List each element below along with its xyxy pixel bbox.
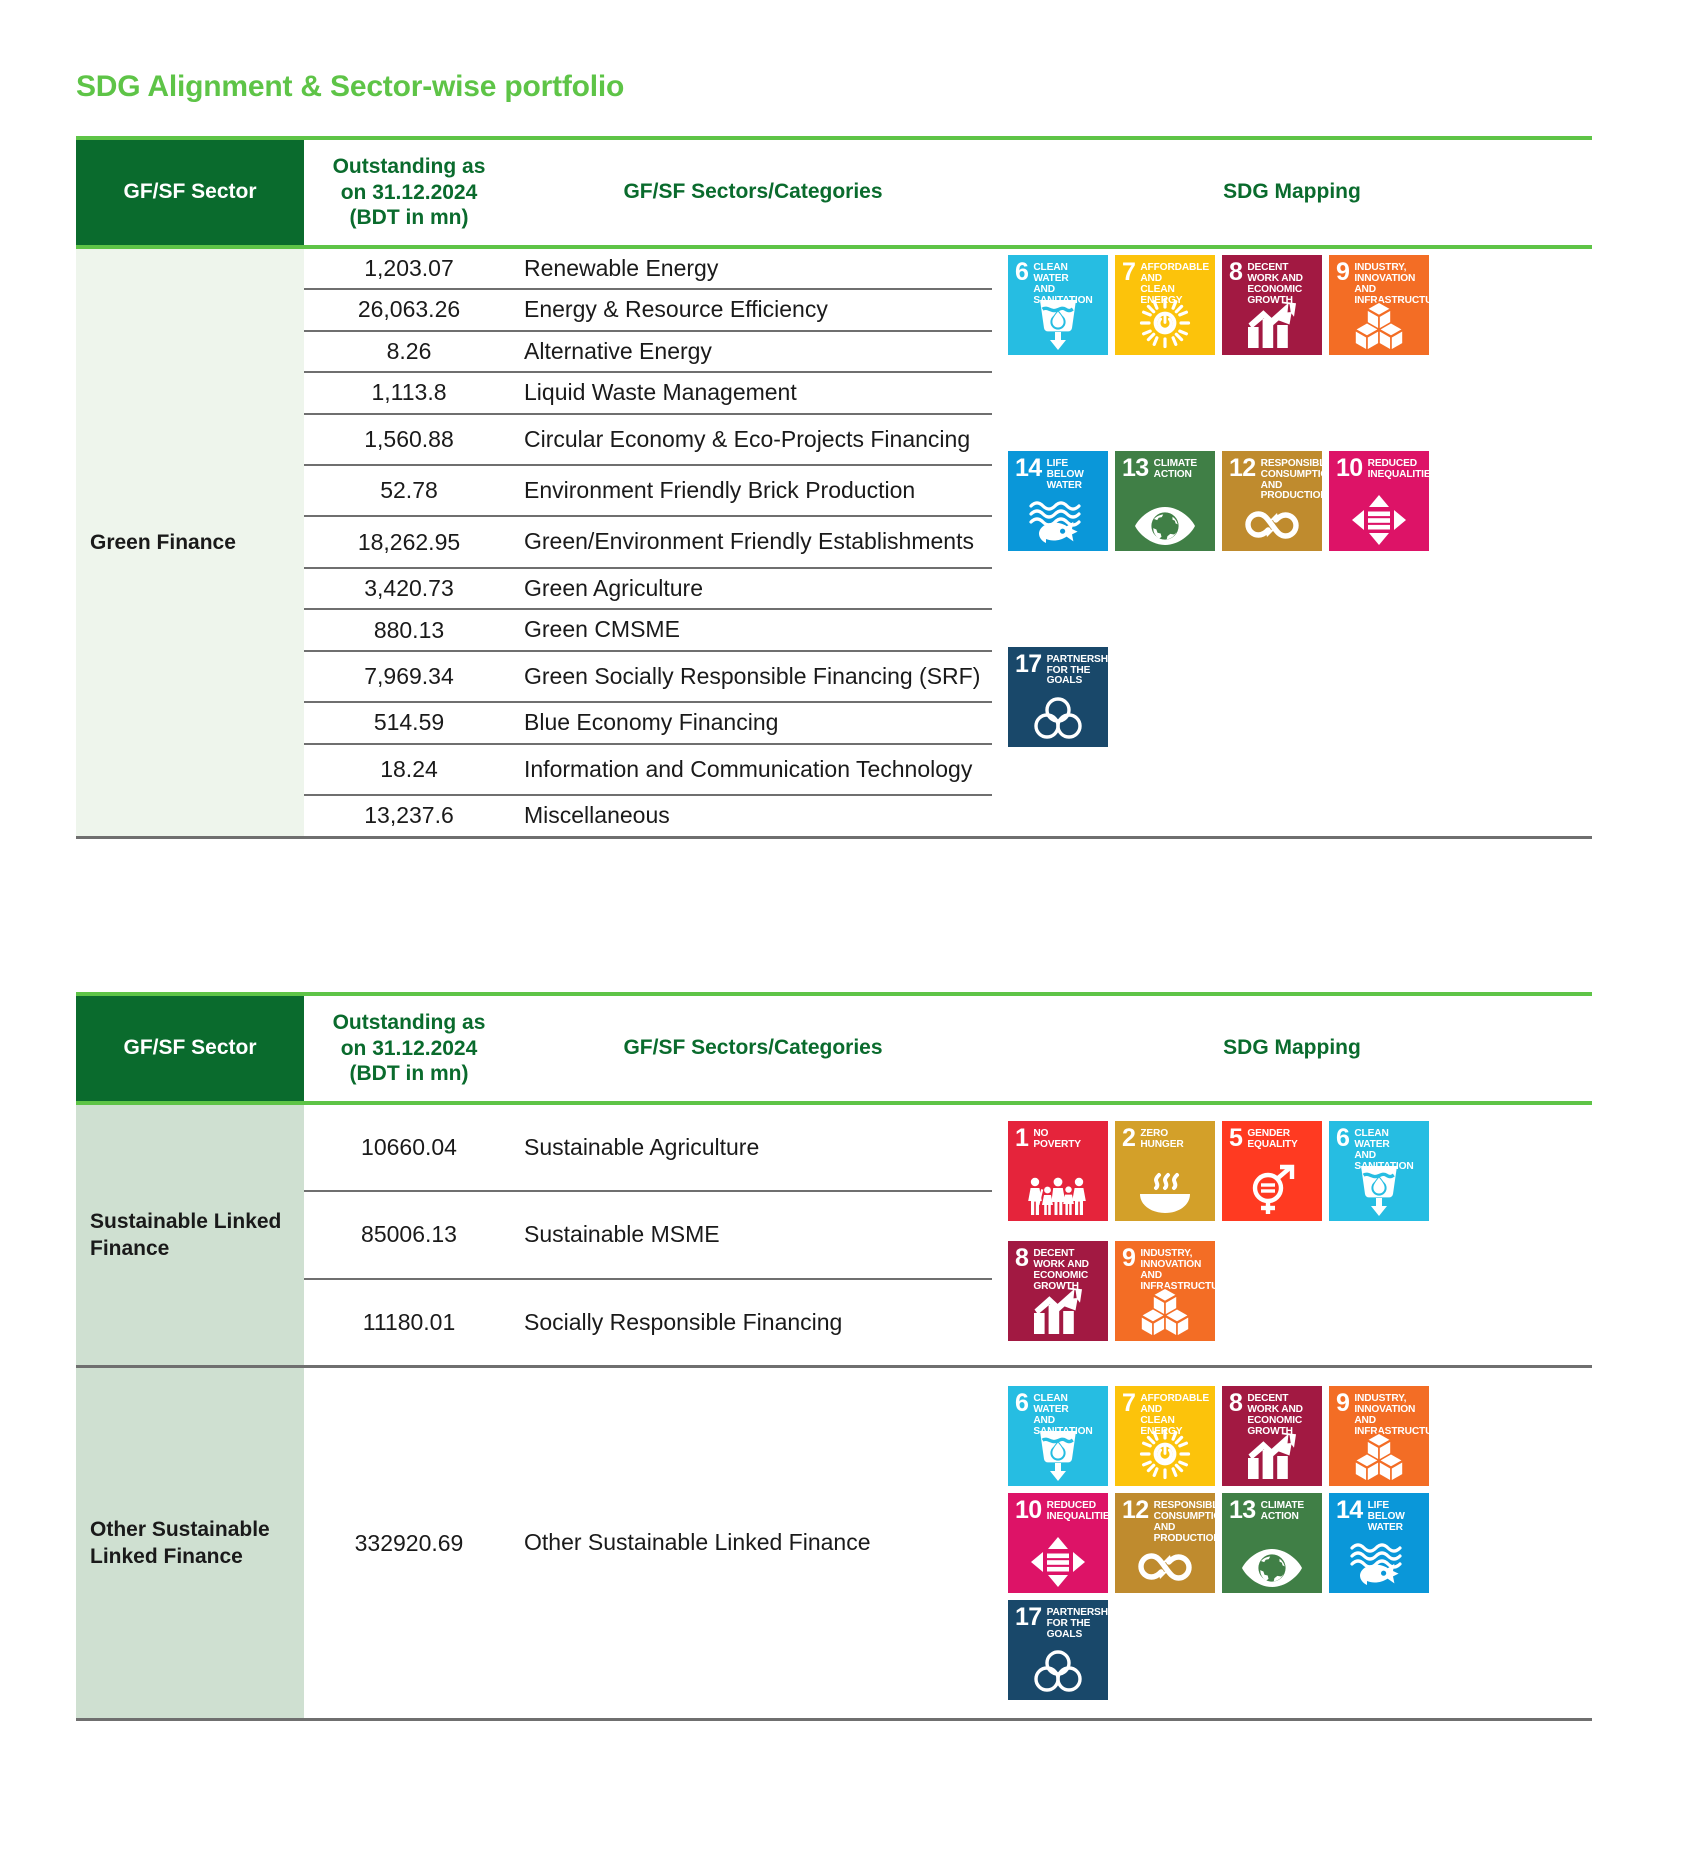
sdg-goal-number: 9 xyxy=(1336,262,1349,283)
sdg-icon-grid: 6CLEAN WATERAND SANITATION7AFFORDABLE AN… xyxy=(1008,255,1460,836)
header-outstanding-2: Outstanding as on 31.12.2024 (BDT in mn) xyxy=(304,996,514,1101)
row-outstanding-amount: 52.78 xyxy=(304,466,514,515)
sdg-tile-header: 1NOPOVERTY xyxy=(1008,1121,1108,1151)
sdg-goal-10-tile: 10REDUCEDINEQUALITIES xyxy=(1008,1493,1108,1593)
sdg-goal-14-tile: 14LIFEBELOW WATER xyxy=(1008,451,1108,551)
sdg-tile-header: 17PARTNERSHIPSFOR THE GOALS xyxy=(1008,1600,1108,1641)
sdg-tile-header: 9INDUSTRY, INNOVATIONAND INFRASTRUCTURE xyxy=(1329,255,1429,307)
row-category-label: Other Sustainable Linked Finance xyxy=(514,1500,992,1585)
table2-bottom-rule xyxy=(76,1718,1592,1721)
fish-waves-icon xyxy=(1008,500,1108,546)
sun-power-icon xyxy=(1115,1427,1215,1481)
sdg-goal-14-tile: 14LIFEBELOW WATER xyxy=(1329,1493,1429,1593)
sdg-icon-grid: 6CLEAN WATERAND SANITATION7AFFORDABLE AN… xyxy=(1008,1386,1460,1700)
table-row: 52.78Environment Friendly Brick Producti… xyxy=(304,466,992,517)
sdg-goal-number: 10 xyxy=(1336,458,1363,479)
green-finance-table: GF/SF Sector Outstanding as on 31.12.202… xyxy=(76,136,1592,839)
sdg-tile-header: 12RESPONSIBLECONSUMPTIONAND PRODUCTION xyxy=(1115,1493,1215,1545)
growth-chart-icon xyxy=(1008,1286,1108,1336)
table1-sdg-cell: 6CLEAN WATERAND SANITATION7AFFORDABLE AN… xyxy=(992,249,1592,836)
table2-rows: 10660.04Sustainable Agriculture85006.13S… xyxy=(304,1105,992,1365)
sdg-tile-header: 10REDUCEDINEQUALITIES xyxy=(1008,1493,1108,1523)
fish-waves-icon xyxy=(1329,1542,1429,1588)
row-outstanding-amount: 7,969.34 xyxy=(304,652,514,701)
table-row: 13,237.6Miscellaneous xyxy=(304,796,992,835)
sector-label-green-finance: Green Finance xyxy=(76,249,304,836)
sdg-goal-number: 9 xyxy=(1336,1393,1349,1414)
sdg-goal-7-tile: 7AFFORDABLE ANDCLEAN ENERGY xyxy=(1115,1386,1215,1486)
table-row: 18,262.95Green/Environment Friendly Esta… xyxy=(304,517,992,568)
row-category-label: Environment Friendly Brick Production xyxy=(514,466,992,515)
row-category-label: Green CMSME xyxy=(514,610,992,649)
sdg-goal-13-tile: 13CLIMATEACTION xyxy=(1115,451,1215,551)
sdg-goal-7-tile: 7AFFORDABLE ANDCLEAN ENERGY xyxy=(1115,255,1215,355)
sdg-goal-6-tile: 6CLEAN WATERAND SANITATION xyxy=(1329,1121,1429,1221)
header-outstanding-2-line2: on 31.12.2024 xyxy=(341,1036,478,1062)
table1-bottom-rule xyxy=(76,836,1592,839)
sdg-tile-header: 13CLIMATEACTION xyxy=(1222,1493,1322,1523)
table-row: 1,560.88Circular Economy & Eco-Projects … xyxy=(304,415,992,466)
sdg-goal-number: 12 xyxy=(1229,458,1256,479)
table-row: 3,420.73Green Agriculture xyxy=(304,569,992,610)
row-outstanding-amount: 1,203.07 xyxy=(304,249,514,288)
row-category-label: Blue Economy Financing xyxy=(514,703,992,742)
sdg-goal-number: 5 xyxy=(1229,1128,1242,1149)
sdg-goal-number: 13 xyxy=(1122,458,1149,479)
gender-equality-icon xyxy=(1222,1164,1322,1216)
infinity-loop-icon xyxy=(1115,1546,1215,1588)
cubes-icon xyxy=(1329,1431,1429,1481)
table-row: 514.59Blue Economy Financing xyxy=(304,703,992,744)
water-glass-icon xyxy=(1329,1162,1429,1216)
sdg-tile-header: 9INDUSTRY, INNOVATIONAND INFRASTRUCTURE xyxy=(1115,1241,1215,1293)
row-outstanding-amount: 332920.69 xyxy=(304,1500,514,1585)
sdg-goal-label: RESPONSIBLECONSUMPTIONAND PRODUCTION xyxy=(1261,458,1322,503)
sun-power-icon xyxy=(1115,296,1215,350)
header-sdg-mapping-2: SDG Mapping xyxy=(992,996,1592,1101)
sdg-goal-label: NOPOVERTY xyxy=(1033,1128,1081,1151)
sdg-goal-5-tile: 5GENDEREQUALITY xyxy=(1222,1121,1322,1221)
sdg-goal-9-tile: 9INDUSTRY, INNOVATIONAND INFRASTRUCTURE xyxy=(1329,1386,1429,1486)
sdg-tile-header: 8DECENT WORK ANDECONOMIC GROWTH xyxy=(1222,255,1322,307)
sdg-goal-number: 8 xyxy=(1229,262,1242,283)
growth-chart-icon xyxy=(1222,1431,1322,1481)
header-outstanding-line3: (BDT in mn) xyxy=(350,205,469,231)
table-row: 7,969.34Green Socially Responsible Finan… xyxy=(304,652,992,703)
row-category-label: Sustainable Agriculture xyxy=(514,1105,992,1190)
row-category-label: Socially Responsible Financing xyxy=(514,1280,992,1365)
row-outstanding-amount: 1,560.88 xyxy=(304,415,514,464)
row-category-label: Sustainable MSME xyxy=(514,1192,992,1277)
sdg-tile-header: 14LIFEBELOW WATER xyxy=(1008,451,1108,492)
sdg-portfolio-page: SDG Alignment & Sector-wise portfolio GF… xyxy=(0,0,1689,1873)
sdg-goal-number: 12 xyxy=(1122,1500,1149,1521)
row-category-label: Liquid Waste Management xyxy=(514,373,992,412)
sdg-goal-label: CLIMATEACTION xyxy=(1261,1500,1304,1523)
equality-arrows-icon xyxy=(1329,494,1429,546)
eye-earth-icon xyxy=(1222,1548,1322,1588)
sdg-goal-17-tile: 17PARTNERSHIPSFOR THE GOALS xyxy=(1008,1600,1108,1700)
sdg-goal-number: 6 xyxy=(1336,1128,1349,1149)
sdg-goal-12-tile: 12RESPONSIBLECONSUMPTIONAND PRODUCTION xyxy=(1222,451,1322,551)
row-outstanding-amount: 85006.13 xyxy=(304,1192,514,1277)
table2-rows: 332920.69Other Sustainable Linked Financ… xyxy=(304,1368,992,1718)
page-title: SDG Alignment & Sector-wise portfolio xyxy=(76,70,624,104)
people-icon xyxy=(1008,1176,1108,1216)
table1-header-row: GF/SF Sector Outstanding as on 31.12.202… xyxy=(76,140,1592,245)
table-row: 1,203.07Renewable Energy xyxy=(304,249,992,290)
sdg-goal-1-tile: 1NOPOVERTY xyxy=(1008,1121,1108,1221)
table2-sdg-cell: 6CLEAN WATERAND SANITATION7AFFORDABLE AN… xyxy=(992,1368,1592,1718)
row-category-label: Information and Communication Technology xyxy=(514,745,992,794)
table-row: 85006.13Sustainable MSME xyxy=(304,1192,992,1279)
sdg-goal-10-tile: 10REDUCEDINEQUALITIES xyxy=(1329,451,1429,551)
sdg-tile-header: 17PARTNERSHIPSFOR THE GOALS xyxy=(1008,647,1108,688)
sdg-tile-header: 13CLIMATEACTION xyxy=(1115,451,1215,481)
header-outstanding-line2: on 31.12.2024 xyxy=(341,180,478,206)
table-row: 880.13Green CMSME xyxy=(304,610,992,651)
header-sdg-mapping: SDG Mapping xyxy=(992,140,1592,245)
row-category-label: Miscellaneous xyxy=(514,796,992,835)
header-categories-2: GF/SF Sectors/Categories xyxy=(514,996,992,1101)
row-outstanding-amount: 514.59 xyxy=(304,703,514,742)
sdg-tile-header: 14LIFEBELOW WATER xyxy=(1329,1493,1429,1534)
table-row: 8.26Alternative Energy xyxy=(304,332,992,373)
header-outstanding: Outstanding as on 31.12.2024 (BDT in mn) xyxy=(304,140,514,245)
table2-group: Other Sustainable Linked Finance332920.6… xyxy=(76,1365,1592,1718)
bowl-steam-icon xyxy=(1115,1170,1215,1216)
sdg-goal-6-tile: 6CLEAN WATERAND SANITATION xyxy=(1008,255,1108,355)
sdg-goal-number: 7 xyxy=(1122,262,1135,283)
sdg-goal-number: 8 xyxy=(1229,1393,1242,1414)
sdg-goal-label: CLIMATEACTION xyxy=(1154,458,1197,481)
table-row: 18.24Information and Communication Techn… xyxy=(304,745,992,796)
sdg-tile-header: 8DECENT WORK ANDECONOMIC GROWTH xyxy=(1008,1241,1108,1293)
water-glass-icon xyxy=(1008,1427,1108,1481)
header-outstanding-2-line1: Outstanding as xyxy=(333,1010,486,1036)
row-outstanding-amount: 8.26 xyxy=(304,332,514,371)
table2-header-row: GF/SF Sector Outstanding as on 31.12.202… xyxy=(76,996,1592,1101)
header-sector-2: GF/SF Sector xyxy=(76,996,304,1101)
table-row: 10660.04Sustainable Agriculture xyxy=(304,1105,992,1192)
row-outstanding-amount: 13,237.6 xyxy=(304,796,514,835)
sdg-goal-8-tile: 8DECENT WORK ANDECONOMIC GROWTH xyxy=(1222,255,1322,355)
partnership-rings-icon xyxy=(1008,1649,1108,1695)
sdg-goal-number: 13 xyxy=(1229,1500,1256,1521)
sdg-goal-label: REDUCEDINEQUALITIES xyxy=(1368,458,1429,481)
sdg-tile-header: 8DECENT WORK ANDECONOMIC GROWTH xyxy=(1222,1386,1322,1438)
sdg-goal-number: 10 xyxy=(1015,1500,1042,1521)
sdg-goal-label: ZEROHUNGER xyxy=(1140,1128,1183,1151)
table2-groups: Sustainable Linked Finance10660.04Sustai… xyxy=(76,1105,1592,1718)
row-category-label: Energy & Resource Efficiency xyxy=(514,290,992,329)
row-outstanding-amount: 18,262.95 xyxy=(304,517,514,566)
header-categories: GF/SF Sectors/Categories xyxy=(514,140,992,245)
growth-chart-icon xyxy=(1222,300,1322,350)
row-outstanding-amount: 10660.04 xyxy=(304,1105,514,1190)
row-category-label: Green Agriculture xyxy=(514,569,992,608)
sdg-goal-number: 2 xyxy=(1122,1128,1135,1149)
sdg-goal-2-tile: 2ZEROHUNGER xyxy=(1115,1121,1215,1221)
sustainable-finance-table: GF/SF Sector Outstanding as on 31.12.202… xyxy=(76,992,1592,1721)
header-outstanding-2-line3: (BDT in mn) xyxy=(350,1061,469,1087)
row-category-label: Alternative Energy xyxy=(514,332,992,371)
sector-label-other-sustainable-linked-finance: Other Sustainable Linked Finance xyxy=(76,1368,304,1718)
sdg-goal-8-tile: 8DECENT WORK ANDECONOMIC GROWTH xyxy=(1222,1386,1322,1486)
sdg-goal-label: LIFEBELOW WATER xyxy=(1047,458,1102,492)
sdg-tile-header: 2ZEROHUNGER xyxy=(1115,1121,1215,1151)
table-row: 332920.69Other Sustainable Linked Financ… xyxy=(304,1500,992,1585)
sdg-goal-number: 9 xyxy=(1122,1248,1135,1269)
row-outstanding-amount: 26,063.26 xyxy=(304,290,514,329)
sdg-goal-label: LIFEBELOW WATER xyxy=(1368,1500,1423,1534)
sector-label-sustainable-linked-finance: Sustainable Linked Finance xyxy=(76,1105,304,1365)
partnership-rings-icon xyxy=(1008,696,1108,742)
sdg-goal-label: REDUCEDINEQUALITIES xyxy=(1047,1500,1108,1523)
row-category-label: Green/Environment Friendly Establishment… xyxy=(514,517,992,566)
header-outstanding-line1: Outstanding as xyxy=(333,154,486,180)
sdg-goal-13-tile: 13CLIMATEACTION xyxy=(1222,1493,1322,1593)
infinity-loop-icon xyxy=(1222,504,1322,546)
sdg-tile-header: 5GENDEREQUALITY xyxy=(1222,1121,1322,1151)
cubes-icon xyxy=(1329,300,1429,350)
sdg-goal-label: RESPONSIBLECONSUMPTIONAND PRODUCTION xyxy=(1154,1500,1215,1545)
table-row: 11180.01Socially Responsible Financing xyxy=(304,1280,992,1365)
row-outstanding-amount: 11180.01 xyxy=(304,1280,514,1365)
sdg-goal-number: 7 xyxy=(1122,1393,1135,1414)
sdg-goal-8-tile: 8DECENT WORK ANDECONOMIC GROWTH xyxy=(1008,1241,1108,1341)
sdg-goal-number: 6 xyxy=(1015,262,1028,283)
sdg-goal-label: PARTNERSHIPSFOR THE GOALS xyxy=(1047,1607,1108,1641)
eye-earth-icon xyxy=(1115,506,1215,546)
sdg-tile-header: 9INDUSTRY, INNOVATIONAND INFRASTRUCTURE xyxy=(1329,1386,1429,1438)
table2-group: Sustainable Linked Finance10660.04Sustai… xyxy=(76,1105,1592,1365)
row-outstanding-amount: 3,420.73 xyxy=(304,569,514,608)
row-category-label: Renewable Energy xyxy=(514,249,992,288)
water-glass-icon xyxy=(1008,296,1108,350)
sdg-goal-number: 14 xyxy=(1336,1500,1363,1521)
sdg-tile-header: 12RESPONSIBLECONSUMPTIONAND PRODUCTION xyxy=(1222,451,1322,503)
sdg-goal-number: 14 xyxy=(1015,458,1042,479)
sdg-goal-number: 17 xyxy=(1015,1607,1042,1628)
row-outstanding-amount: 1,113.8 xyxy=(304,373,514,412)
sdg-goal-label: GENDEREQUALITY xyxy=(1247,1128,1297,1151)
table1-body: Green Finance 1,203.07Renewable Energy26… xyxy=(76,249,1592,836)
cubes-icon xyxy=(1115,1286,1215,1336)
row-category-label: Circular Economy & Eco-Projects Financin… xyxy=(514,415,992,464)
sdg-tile-header: 10REDUCEDINEQUALITIES xyxy=(1329,451,1429,481)
sdg-goal-9-tile: 9INDUSTRY, INNOVATIONAND INFRASTRUCTURE xyxy=(1329,255,1429,355)
sdg-goal-number: 6 xyxy=(1015,1393,1028,1414)
header-sector: GF/SF Sector xyxy=(76,140,304,245)
row-category-label: Green Socially Responsible Financing (SR… xyxy=(514,652,992,701)
table1-rows: 1,203.07Renewable Energy26,063.26Energy … xyxy=(304,249,992,836)
table2-sdg-cell: 1NOPOVERTY 2ZEROHUNGER 5GENDEREQUALITY 6… xyxy=(992,1105,1592,1365)
row-outstanding-amount: 880.13 xyxy=(304,610,514,649)
sdg-icon-grid: 1NOPOVERTY 2ZEROHUNGER 5GENDEREQUALITY 6… xyxy=(1008,1121,1460,1355)
table-row: 26,063.26Energy & Resource Efficiency xyxy=(304,290,992,331)
sdg-goal-label: PARTNERSHIPSFOR THE GOALS xyxy=(1047,654,1108,688)
equality-arrows-icon xyxy=(1008,1536,1108,1588)
sdg-goal-number: 1 xyxy=(1015,1128,1028,1149)
table-row: 1,113.8Liquid Waste Management xyxy=(304,373,992,414)
sdg-goal-number: 8 xyxy=(1015,1248,1028,1269)
sdg-goal-number: 17 xyxy=(1015,654,1042,675)
row-outstanding-amount: 18.24 xyxy=(304,745,514,794)
sdg-goal-6-tile: 6CLEAN WATERAND SANITATION xyxy=(1008,1386,1108,1486)
sdg-goal-17-tile: 17PARTNERSHIPSFOR THE GOALS xyxy=(1008,647,1108,747)
sdg-goal-12-tile: 12RESPONSIBLECONSUMPTIONAND PRODUCTION xyxy=(1115,1493,1215,1593)
sdg-goal-9-tile: 9INDUSTRY, INNOVATIONAND INFRASTRUCTURE xyxy=(1115,1241,1215,1341)
